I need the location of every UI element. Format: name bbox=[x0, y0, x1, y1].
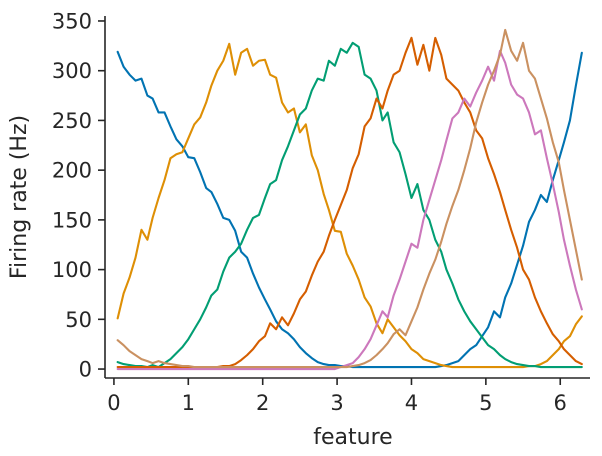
x-tick-label: 0 bbox=[107, 391, 120, 415]
tuning-curve-chart: 050100150200250300350 0123456 feature Fi… bbox=[0, 0, 602, 456]
y-tick-label: 350 bbox=[52, 9, 92, 33]
y-axis-label: Firing rate (Hz) bbox=[7, 115, 32, 279]
y-tick-label: 0 bbox=[79, 358, 92, 382]
y-tick-label: 300 bbox=[52, 59, 92, 83]
x-tick-label: 1 bbox=[182, 391, 195, 415]
x-tick-label: 5 bbox=[479, 391, 492, 415]
x-tick-label: 6 bbox=[554, 391, 567, 415]
x-tick-label: 4 bbox=[405, 391, 418, 415]
y-tick-label: 200 bbox=[52, 159, 92, 183]
y-tick-label: 100 bbox=[52, 258, 92, 282]
x-tick-label: 3 bbox=[330, 391, 343, 415]
figure-canvas: 050100150200250300350 0123456 feature Fi… bbox=[0, 0, 602, 456]
x-axis-label: feature bbox=[313, 425, 392, 450]
y-tick-label: 50 bbox=[65, 308, 92, 332]
y-tick-label: 150 bbox=[52, 208, 92, 232]
x-tick-label: 2 bbox=[256, 391, 269, 415]
y-tick-label: 250 bbox=[52, 109, 92, 133]
